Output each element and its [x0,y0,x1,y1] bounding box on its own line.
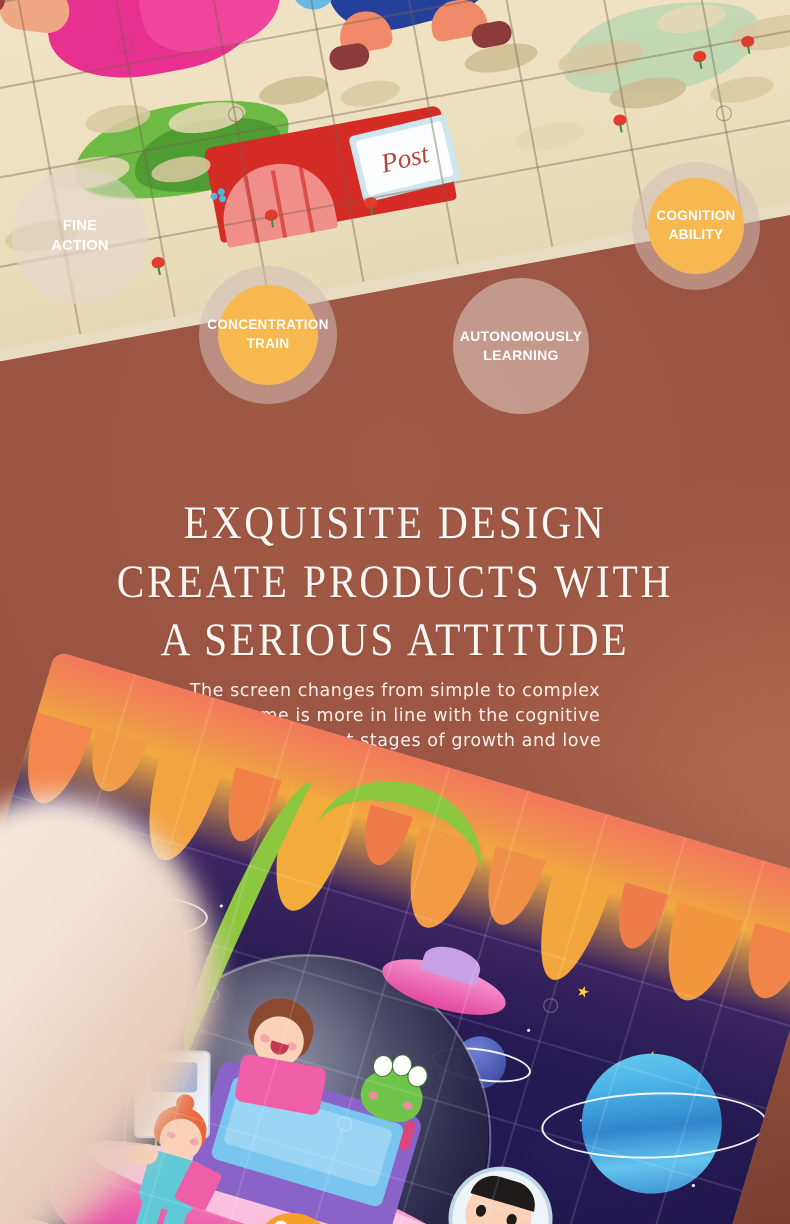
cobblestone [513,117,587,155]
page-headline: EXQUISITE DESIGN CREATE PRODUCTS WITH A … [47,494,742,670]
feature-label-line: CONCENTRATION [207,316,328,335]
cobblestone [257,71,331,109]
feature-label-line: FINE [51,216,108,236]
headline-line: A SERIOUS ATTITUDE [47,611,742,670]
headline-line: CREATE PRODUCTS WITH [47,553,742,612]
green-tube [295,761,498,945]
feature-circle-concentration-train[interactable]: CONCENTRATION TRAIN [199,266,337,404]
feature-label-line: ABILITY [656,226,735,245]
nebula-drip [475,846,546,932]
puzzle-knob [541,996,560,1015]
feature-label-line: COGNITION [656,207,735,226]
puzzle-knob [715,104,734,123]
cobblestone [462,39,539,78]
blue-flower-shape [209,188,227,205]
cobblestone [339,76,402,111]
banner-stage: Post [0,0,790,1224]
feature-label-line: TRAIN [207,335,328,354]
nebula-drip [735,923,790,1006]
headline-line: EXQUISITE DESIGN [47,494,742,553]
star-dot [219,904,223,908]
star-dot [527,1029,531,1033]
star-dot [692,1184,695,1187]
nebula-drip [652,902,743,1010]
feature-circle-autonomously-learning[interactable]: AUTONOMOUSLY LEARNING [453,278,589,414]
feature-label-line: AUTONOMOUSLY [460,327,583,346]
feature-label-line: ACTION [51,236,108,256]
feature-circle-fine-action[interactable]: FINE ACTION [12,168,148,304]
planet-ring [540,1090,768,1162]
feature-circle-cognition-ability[interactable]: COGNITION ABILITY [632,162,760,290]
character-shoe [327,41,371,72]
feature-label-line: LEARNING [460,346,583,365]
